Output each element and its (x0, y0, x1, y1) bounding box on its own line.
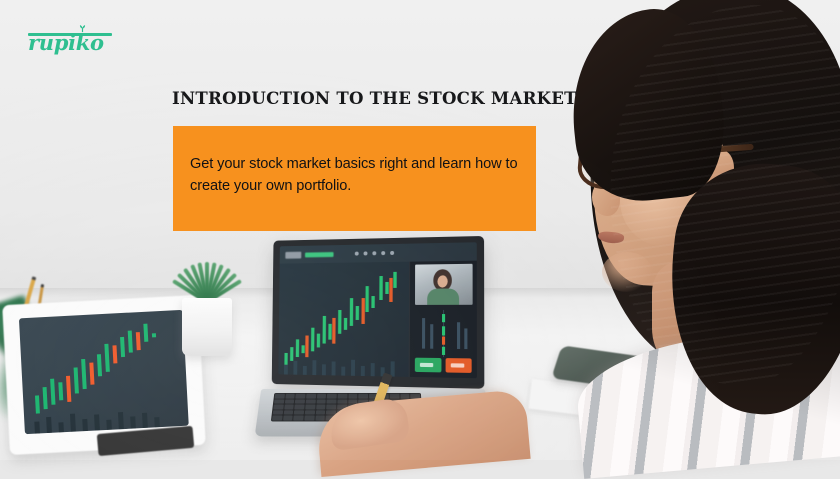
promo-body-text: Get your stock market basics right and l… (190, 154, 520, 197)
toolbar-icon (381, 251, 385, 255)
keyboard-row (275, 394, 421, 399)
laptop-screen (278, 242, 477, 378)
toolbar-icon (372, 251, 376, 255)
sell-button (445, 358, 472, 373)
order-book-mini-chart (416, 308, 471, 351)
brand-logo[interactable]: rupiko (28, 24, 112, 56)
promo-callout-box: Get your stock market basics right and l… (173, 126, 536, 231)
tablet-screen (19, 310, 189, 434)
chin (602, 252, 652, 292)
laptop-lid (272, 236, 485, 389)
page-title: INTRODUCTION TO THE STOCK MARKET (172, 88, 592, 108)
potted-plant (176, 238, 238, 356)
ticker-readout (305, 252, 334, 257)
buy-button (415, 358, 441, 373)
laptop-candlestick-chart (278, 262, 409, 377)
avatar-body (427, 288, 459, 304)
toolbar-icon (364, 251, 368, 255)
person-photo (520, 0, 840, 460)
trading-side-panel (409, 261, 477, 379)
toolbar-icon (390, 251, 394, 255)
app-logo-icon (285, 251, 301, 258)
order-action-buttons (415, 358, 472, 373)
video-thumbnail-avatar (415, 264, 473, 305)
brand-logo-text: rupiko (28, 32, 112, 53)
plant-foliage (176, 238, 238, 306)
toolbar-icon (355, 252, 359, 256)
tablet-candlestick-chart (19, 310, 189, 434)
toolbar-icon-group (355, 251, 394, 256)
plant-pot (182, 298, 232, 356)
